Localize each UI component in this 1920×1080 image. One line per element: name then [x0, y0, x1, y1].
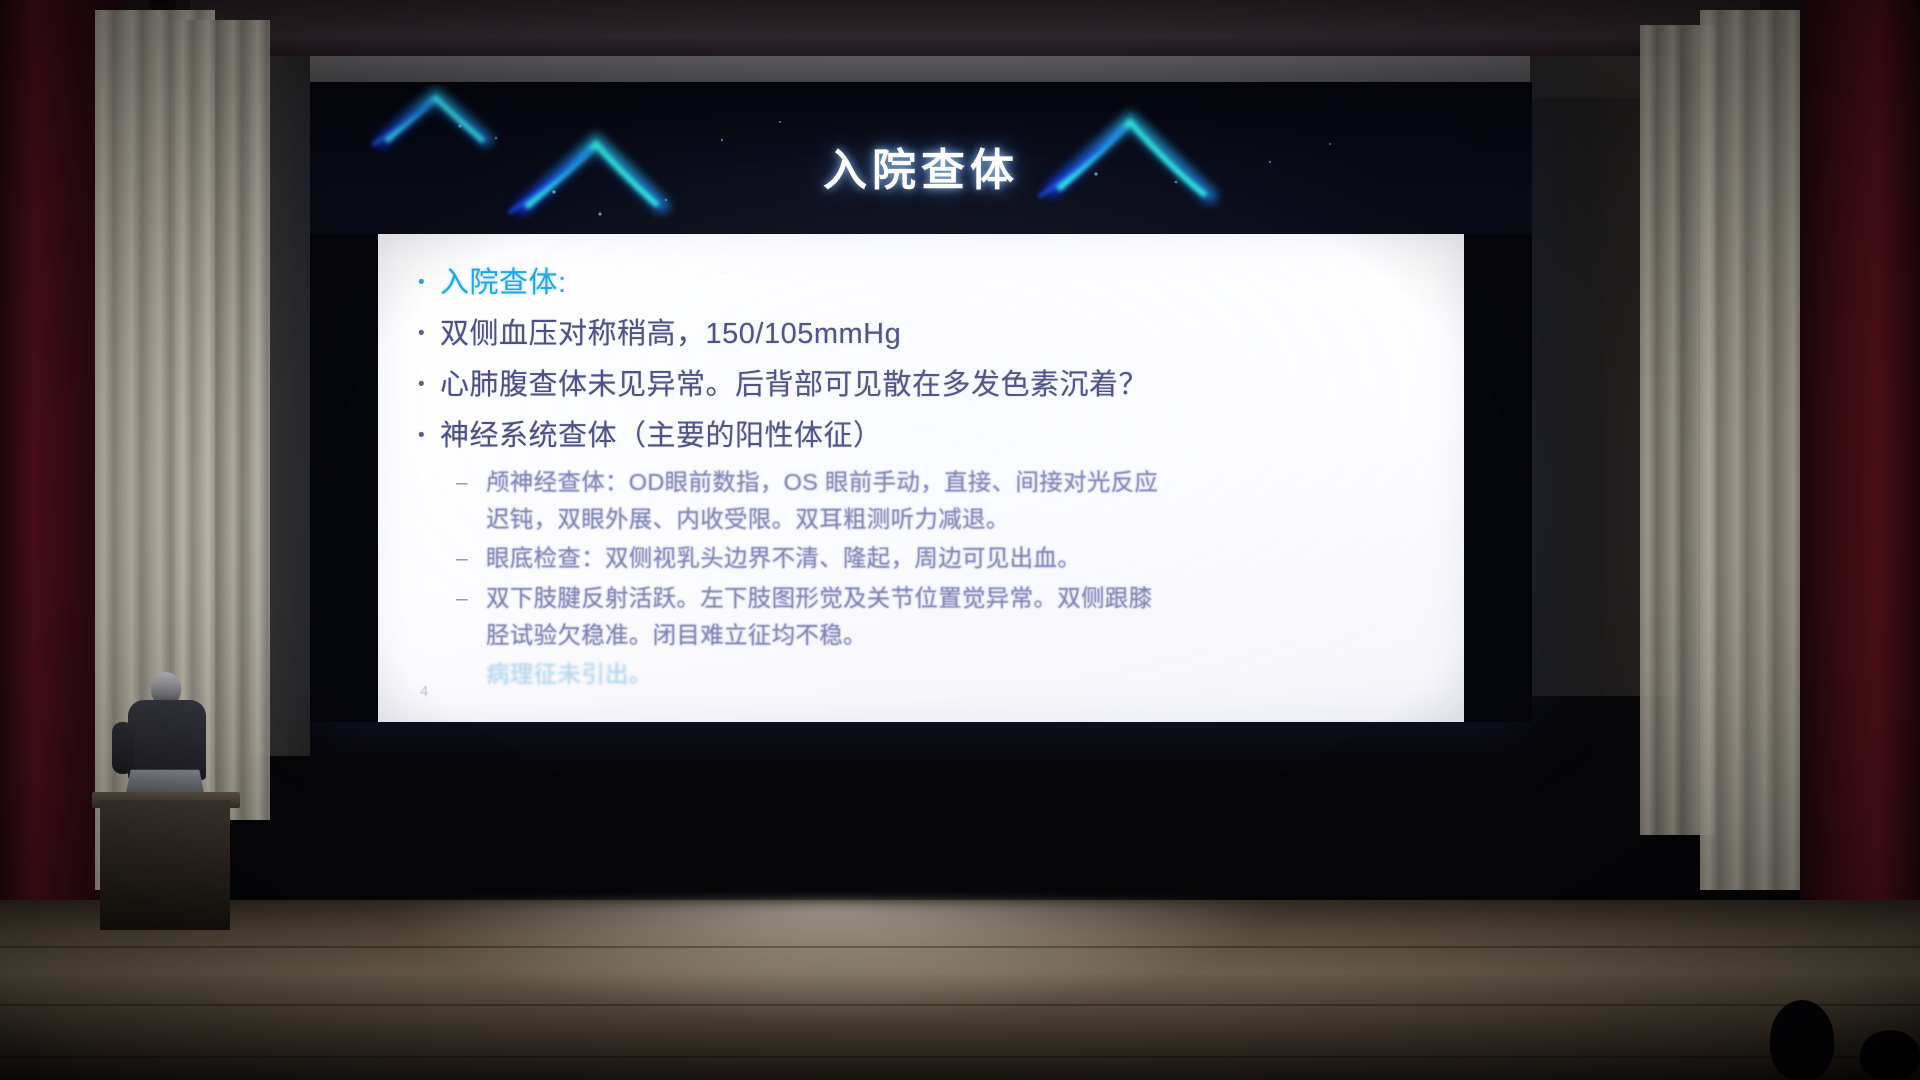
- slide-page-number: 4: [420, 683, 428, 700]
- bullet-marker-icon: •: [418, 362, 440, 408]
- floor-plank-line: [0, 946, 1920, 948]
- sub-bullet-text: 双下肢腱反射活跃。左下肢图形觉及关节位置觉异常。双侧跟膝 胫试验欠稳准。闭目难立…: [486, 580, 1152, 654]
- bullet-item: • 心肺腹查体未见异常。后背部可见散在多发色素沉着？: [418, 362, 1448, 408]
- sub-bullet-line: 病理征未引出。: [486, 656, 653, 693]
- bullet-marker-icon: •: [418, 260, 440, 306]
- bullet-marker-icon: •: [418, 311, 440, 357]
- sub-bullet-marker-icon: –: [456, 580, 486, 618]
- bullet-list: • 入院查体: • 双侧血压对称稍高，150/105mmHg • 心肺腹查体未见…: [418, 260, 1448, 693]
- sub-bullet-text: 病理征未引出。: [486, 656, 653, 693]
- stage-curtain-right: [1700, 10, 1810, 890]
- sub-bullet-line: 双下肢腱反射活跃。左下肢图形觉及关节位置觉异常。双侧跟膝: [486, 580, 1152, 617]
- audience-head-silhouette: [1770, 1000, 1834, 1080]
- sub-bullet-item: – 眼底检查：双侧视乳头边界不清、隆起，周边可见出血。: [418, 540, 1448, 578]
- led-presentation-screen: 入院查体 • 入院查体: • 双侧血压对称稍高，150/105mmHg • 心肺…: [310, 82, 1532, 722]
- sub-bullet-text: 眼底检查：双侧视乳头边界不清、隆起，周边可见出血。: [486, 540, 1081, 577]
- presenter-body: [128, 700, 206, 780]
- sub-bullet-text: 颅神经查体：OD眼前数指，OS 眼前手动，直接、间接对光反应 迟钝，双眼外展、内…: [486, 464, 1158, 538]
- sub-bullet-line: 眼底检查：双侧视乳头边界不清、隆起，周边可见出血。: [486, 540, 1081, 577]
- bullet-text: 神经系统查体（主要的阳性体征）: [440, 413, 883, 459]
- sub-bullet-item: – 双下肢腱反射活跃。左下肢图形觉及关节位置觉异常。双侧跟膝 胫试验欠稳准。闭目…: [418, 580, 1448, 654]
- slide-content-area: • 入院查体: • 双侧血压对称稍高，150/105mmHg • 心肺腹查体未见…: [378, 234, 1464, 722]
- bullet-marker-icon: •: [418, 413, 440, 459]
- sub-bullet-line: 胫试验欠稳准。闭目难立征均不稳。: [486, 617, 1152, 654]
- floor-plank-line: [0, 1004, 1920, 1006]
- stage-curtain-red-right: [1800, 0, 1920, 950]
- audience-head-silhouette: [1860, 1030, 1920, 1080]
- floor-plank-line: [0, 1056, 1920, 1058]
- sub-bullet-line: 颅神经查体：OD眼前数指，OS 眼前手动，直接、间接对光反应: [486, 464, 1158, 501]
- sub-bullet-marker-icon: –: [456, 540, 486, 578]
- sub-bullet-item: – 颅神经查体：OD眼前数指，OS 眼前手动，直接、间接对光反应 迟钝，双眼外展…: [418, 464, 1448, 538]
- lecture-hall-photo: 入院查体 • 入院查体: • 双侧血压对称稍高，150/105mmHg • 心肺…: [0, 0, 1920, 1080]
- proscenium-arch: [190, 0, 1760, 62]
- bullet-item: • 入院查体:: [418, 260, 1448, 306]
- bullet-text: 心肺腹查体未见异常。后背部可见散在多发色素沉着？: [440, 362, 1148, 408]
- slide-title-banner: 入院查体: [310, 82, 1532, 234]
- bullet-text: 入院查体:: [440, 260, 567, 306]
- bullet-item: • 双侧血压对称稍高，150/105mmHg: [418, 311, 1448, 357]
- sub-bullet-marker-icon: –: [456, 464, 486, 502]
- podium: [100, 800, 230, 930]
- sub-bullet-line: 迟钝，双眼外展、内收受限。双耳粗测听力减退。: [486, 501, 1158, 538]
- sub-bullet-item-faint: 病理征未引出。: [418, 656, 1448, 693]
- bullet-text: 双侧血压对称稍高，150/105mmHg: [440, 311, 901, 357]
- presenter-arm: [112, 722, 134, 774]
- bullet-item: • 神经系统查体（主要的阳性体征）: [418, 413, 1448, 459]
- slide-title: 入院查体: [310, 134, 1532, 198]
